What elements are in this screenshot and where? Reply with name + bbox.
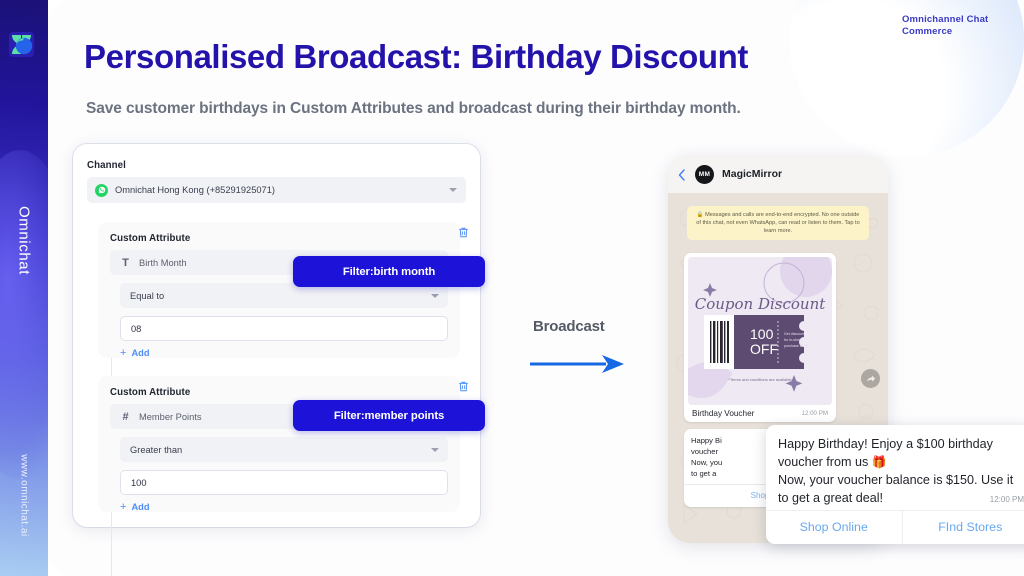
callout-prefix: Filter: [334,410,365,422]
chat-header: MM MagicMirror [668,155,888,193]
operator-value: Greater than [130,445,182,455]
filter-value-input[interactable]: 100 [120,470,448,495]
svg-text:OFF: OFF [750,341,778,357]
media-caption-row: Birthday Voucher 12:00 PM [688,405,832,422]
filter-value: 100 [131,478,147,488]
attribute-label: Custom Attribute [110,233,448,244]
page-subtitle: Save customer birthdays in Custom Attrib… [86,100,741,118]
attribute-label: Custom Attribute [110,387,448,398]
add-condition-button[interactable]: + Add [120,502,448,512]
chevron-down-icon [431,294,439,298]
channel-label: Channel [87,160,466,171]
media-caption: Birthday Voucher [692,409,754,418]
omnichat-logo-icon [9,32,34,57]
svg-text:for in-store: for in-store [784,338,801,342]
encryption-text: Messages and calls are end-to-end encryp… [696,212,859,234]
message-bubble-callout: Happy Birthday! Enjoy a $100 birthday vo… [766,425,1024,544]
callout-text: birth month [374,266,436,278]
channel-value: Omnichat Hong Kong (+85291925071) [115,185,275,195]
trash-icon[interactable] [457,380,470,393]
gift-icon: 🎁 [872,455,887,469]
encryption-notice[interactable]: 🔒 Messages and calls are end-to-end encr… [687,206,869,240]
media-timestamp: 12:00 PM [802,410,828,417]
brand-sidebar: Omnichat www.omnichat.ai [0,0,48,576]
lock-icon: 🔒 [697,212,704,218]
attribute-name-value: Birth Month [139,258,187,268]
arrow-right-icon [528,352,628,381]
add-label: Add [131,348,149,358]
page-title: Personalised Broadcast: Birthday Discoun… [84,38,748,76]
add-label: Add [131,502,149,512]
shop-online-button[interactable]: Shop Online [766,511,902,544]
chevron-down-icon [431,448,439,452]
slide-canvas: Omnichannel Chat Commerce Personalised B… [48,0,1024,576]
plus-icon: + [120,348,126,358]
bubble-line-2-row: voucher from us 🎁 [778,453,1024,471]
text-type-icon: T [120,257,131,269]
sidebar-website-url: www.omnichat.ai [19,454,30,537]
corner-tagline: Omnichannel Chat Commerce [902,14,1012,37]
operator-select[interactable]: Greater than [120,437,448,462]
bubble-line-1: Happy Birthday! Enjoy a $100 birthday [778,435,1024,453]
add-condition-button[interactable]: + Add [120,348,448,358]
broadcast-label: Broadcast [533,318,605,335]
svg-text:purchase $200: purchase $200 [784,344,808,348]
svg-text:Get discount: Get discount [784,332,804,336]
plus-icon: + [120,502,126,512]
media-message[interactable]: Coupon Discount 100 OFF [684,253,836,422]
avatar: MM [695,165,714,184]
svg-text:100: 100 [750,326,774,342]
trash-icon[interactable] [457,226,470,239]
callout-filter-birth-month: Filter: birth month [293,256,485,287]
broadcast-filter-card: Channel Omnichat Hong Kong (+85291925071… [73,144,480,527]
number-type-icon: # [120,411,131,423]
bubble-action-row: Shop Online FInd Stores [766,510,1024,544]
sidebar-brand-name: Omnichat [16,206,33,275]
attribute-filter-block: Custom Attribute # Member Points Greater… [98,376,460,512]
filter-value: 08 [131,324,141,334]
forward-icon[interactable] [861,369,880,388]
operator-value: Equal to [130,291,164,301]
svg-text:Coupon Discount: Coupon Discount [695,295,827,313]
bubble-line-2: voucher from us [778,455,868,469]
channel-select[interactable]: Omnichat Hong Kong (+85291925071) [87,177,466,203]
filter-value-input[interactable]: 08 [120,316,448,341]
find-stores-button[interactable]: FInd Stores [902,511,1024,544]
svg-text:*Terms and conditions are avai: *Terms and conditions are available [728,377,792,382]
bubble-line-3: Now, your voucher balance is $150. Use i… [778,471,1024,489]
coupon-image: Coupon Discount 100 OFF [688,257,832,405]
callout-text: member points [365,410,445,422]
attribute-filter-block: Custom Attribute T Birth Month Equal to … [98,222,460,358]
sidebar-glow-decoration [0,150,48,480]
whatsapp-icon [95,184,108,197]
callout-filter-member-points: Filter: member points [293,400,485,431]
callout-prefix: Filter: [343,266,374,278]
attribute-name-value: Member Points [139,412,202,422]
chevron-down-icon [449,188,457,192]
bubble-body: Happy Birthday! Enjoy a $100 birthday vo… [766,425,1024,510]
back-chevron-icon[interactable] [678,168,685,180]
contact-name: MagicMirror [722,168,782,180]
